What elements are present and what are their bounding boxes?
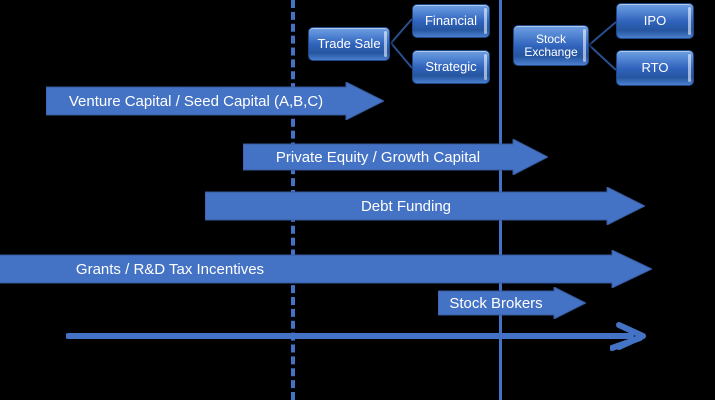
- box-stock-exchange[interactable]: Stock Exchange: [513, 25, 589, 66]
- arrow-private-equity[interactable]: Private Equity / Growth Capital: [243, 139, 548, 175]
- arrow-timeline[interactable]: [66, 322, 656, 350]
- box-strategic-label: Strategic: [421, 60, 480, 74]
- box-trade-sale[interactable]: Trade Sale: [308, 27, 390, 61]
- arrow-grants-label: Grants / R&D Tax Incentives: [76, 261, 264, 278]
- arrow-stock-brokers[interactable]: Stock Brokers: [438, 287, 586, 319]
- box-trade-sale-label: Trade Sale: [313, 37, 384, 51]
- box-financial-label: Financial: [421, 14, 481, 28]
- arrow-private-equity-label: Private Equity / Growth Capital: [276, 149, 480, 166]
- box-rto-label: RTO: [638, 61, 673, 75]
- arrow-timeline-shape: [66, 322, 656, 350]
- arrow-debt-funding-label: Debt Funding: [361, 198, 451, 215]
- box-ipo[interactable]: IPO: [616, 3, 694, 39]
- arrow-venture-capital[interactable]: Venture Capital / Seed Capital (A,B,C): [46, 82, 384, 120]
- box-strategic[interactable]: Strategic: [412, 50, 490, 84]
- arrow-stock-brokers-label: Stock Brokers: [449, 295, 542, 312]
- arrow-venture-capital-label: Venture Capital / Seed Capital (A,B,C): [69, 93, 323, 110]
- box-ipo-label: IPO: [640, 14, 670, 28]
- box-rto[interactable]: RTO: [616, 50, 694, 86]
- box-financial[interactable]: Financial: [412, 4, 490, 38]
- diagram-canvas: Trade Sale Financial Strategic Stock Exc…: [0, 0, 715, 400]
- arrow-debt-funding[interactable]: Debt Funding: [205, 187, 645, 225]
- box-stock-exchange-label: Stock Exchange: [520, 33, 581, 58]
- arrow-grants[interactable]: Grants / R&D Tax Incentives: [0, 250, 652, 288]
